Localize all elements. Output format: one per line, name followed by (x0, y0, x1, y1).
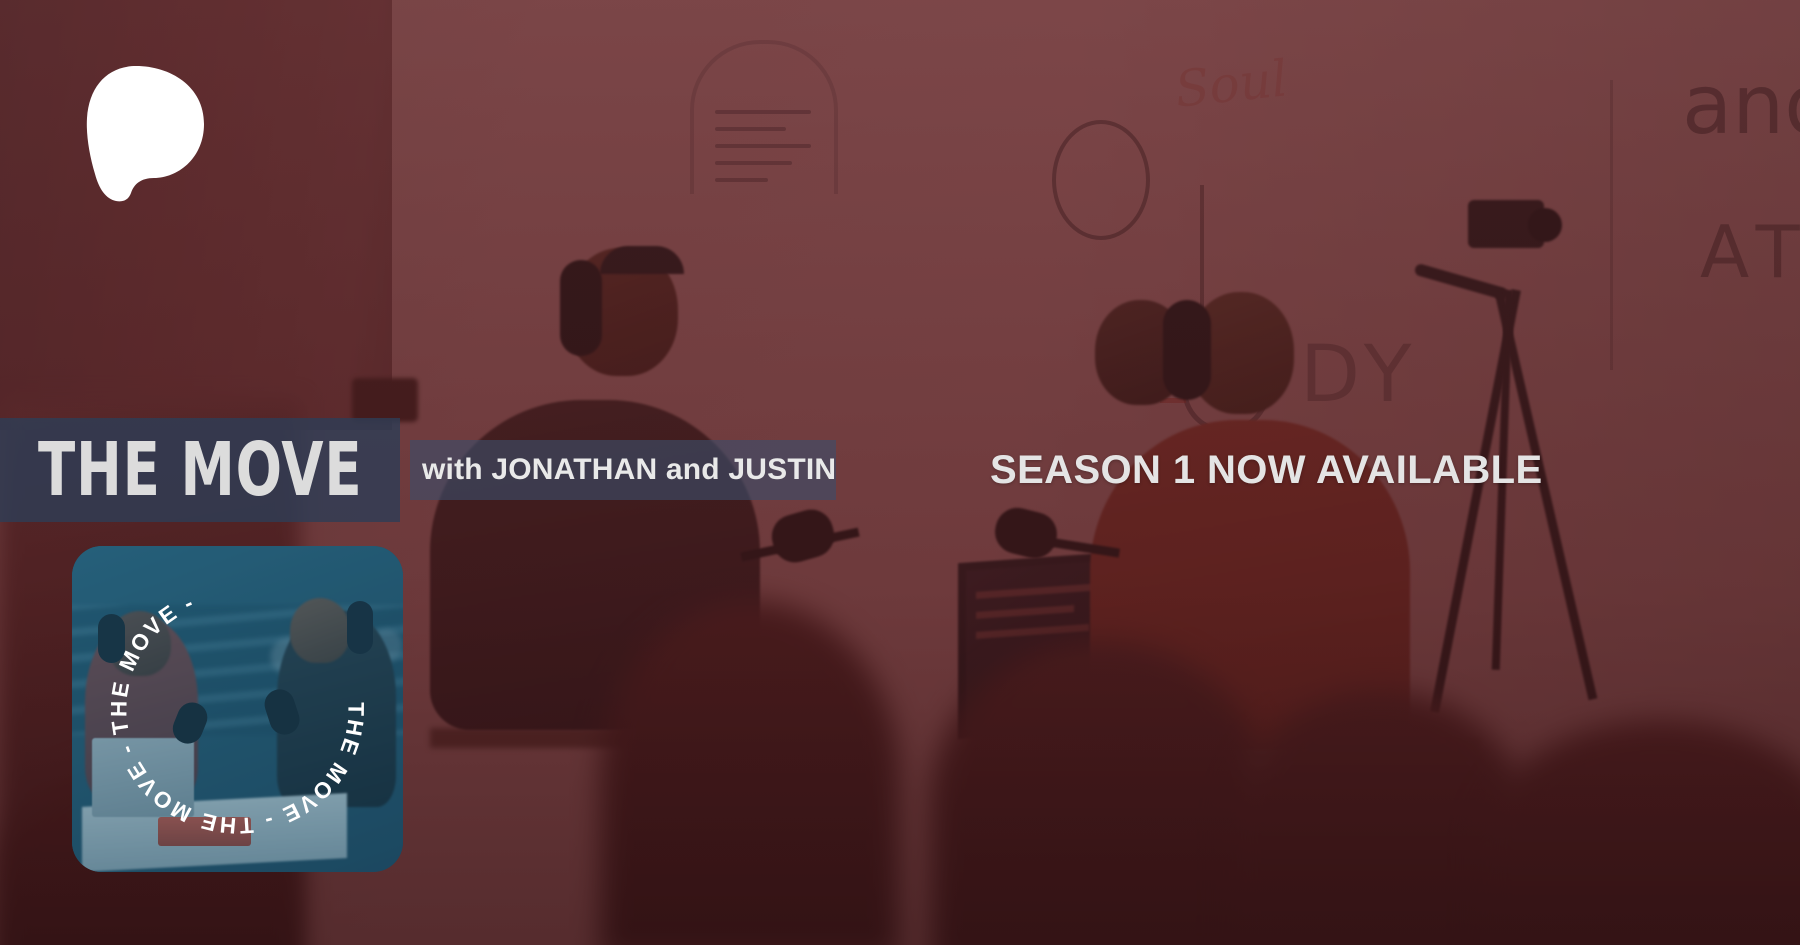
patreon-logo[interactable] (78, 62, 208, 202)
avatar-ring-label: THE MOVE - THE MOVE - THE MOVE - (106, 589, 368, 838)
avatar-ring-textpath: THE MOVE - THE MOVE - THE MOVE - (106, 589, 368, 838)
hero-banner: Soul DY ano AT (0, 0, 1800, 945)
creator-avatar[interactable]: THE MOVE - THE MOVE - THE MOVE - (72, 546, 403, 872)
show-subtitle: with JONATHAN and JUSTIN (422, 453, 836, 487)
avatar-ring-text: THE MOVE - THE MOVE - THE MOVE - (72, 546, 403, 872)
show-title-band: THE MOVE (0, 418, 400, 522)
show-subtitle-band: with JONATHAN and JUSTIN (410, 440, 836, 500)
season-headline: SEASON 1 NOW AVAILABLE (990, 448, 1543, 493)
show-title: THE MOVE (38, 433, 362, 507)
season-headline-wrap: SEASON 1 NOW AVAILABLE (990, 440, 1543, 500)
